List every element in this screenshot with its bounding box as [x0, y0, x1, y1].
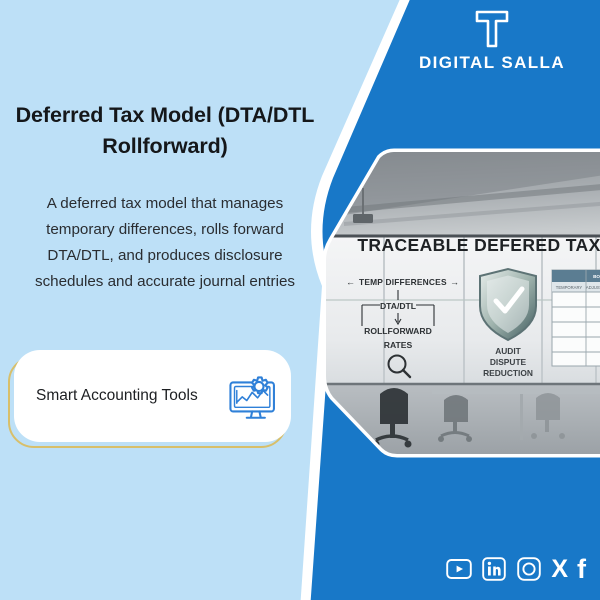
promo-card: DIGITAL SALLA Deferred Tax Model (DTA/DT…: [0, 0, 600, 600]
youtube-icon[interactable]: [446, 556, 472, 582]
svg-text:←: ←: [346, 277, 355, 287]
svg-text:TEMPORARY: TEMPORARY: [556, 285, 583, 290]
hexagon-photo-panel: TRACEABLE DEFERED TAX ← TEMP DIFFERENCES…: [324, 148, 600, 458]
photo-content: TRACEABLE DEFERED TAX ← TEMP DIFFERENCES…: [324, 148, 600, 458]
instagram-icon[interactable]: [516, 556, 542, 582]
page-title: Deferred Tax Model (DTA/DTL Rollforward): [15, 100, 315, 161]
text-column: Deferred Tax Model (DTA/DTL Rollforward)…: [0, 0, 330, 600]
x-twitter-icon[interactable]: X: [551, 556, 568, 582]
description-text: A deferred tax model that manages tempor…: [15, 191, 315, 296]
letter-t-outline-icon: [470, 8, 514, 50]
svg-text:BOOK: BOOK: [593, 274, 600, 279]
svg-text:ADJUSTMENT: ADJUSTMENT: [586, 285, 600, 290]
brand-name: DIGITAL SALLA: [402, 53, 582, 73]
svg-text:RATES: RATES: [384, 340, 413, 350]
linkedin-icon[interactable]: [481, 556, 507, 582]
svg-text:ROLLFORWARD: ROLLFORWARD: [364, 326, 432, 336]
svg-text:DTA/DTL: DTA/DTL: [380, 301, 416, 311]
hexagon-photo: TRACEABLE DEFERED TAX ← TEMP DIFFERENCES…: [324, 148, 600, 458]
svg-text:REDUCTION: REDUCTION: [483, 368, 533, 378]
svg-text:TEMP DIFFERENCES: TEMP DIFFERENCES: [359, 277, 447, 287]
svg-text:DISPUTE: DISPUTE: [490, 357, 527, 367]
overlay-title: TRACEABLE DEFERED TAX: [357, 235, 600, 255]
brand-lockup: DIGITAL SALLA: [402, 8, 582, 73]
facebook-icon[interactable]: f: [577, 556, 586, 582]
social-links[interactable]: X f: [446, 556, 586, 582]
svg-text:→: →: [450, 277, 459, 287]
svg-text:AUDIT: AUDIT: [495, 346, 521, 356]
data-table: BOOK TAX TEMPORARY ADJUSTMENT AMOUNT \u2…: [552, 270, 600, 366]
